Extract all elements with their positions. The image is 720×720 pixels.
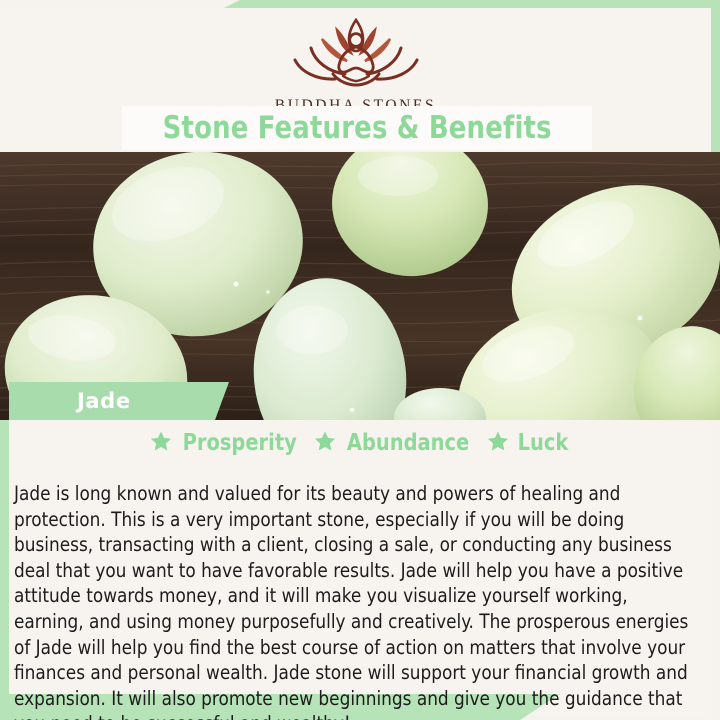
benefit-label: Abundance — [347, 430, 469, 456]
right-green-accent-band — [710, 0, 720, 162]
star-icon — [314, 430, 336, 456]
brand-logo: BUDDHA STONES — [0, 14, 711, 115]
lotus-meditation-icon — [0, 14, 711, 95]
stone-description: Jade is long known and valued for its be… — [14, 481, 696, 720]
star-icon — [150, 430, 172, 456]
page-title: Stone Features & Benefits — [162, 110, 551, 146]
jade-stones-photo — [0, 152, 720, 420]
benefit-label: Luck — [518, 430, 569, 456]
star-icon — [487, 430, 509, 456]
stone-name: Jade — [77, 389, 131, 413]
stone-name-band: Jade — [9, 382, 229, 420]
title-banner: Stone Features & Benefits — [122, 106, 592, 150]
benefit-item-prosperity: Prosperity — [150, 430, 300, 456]
stone-info-poster: BUDDHA STONES Stone Features & Benefits — [0, 0, 720, 720]
benefit-label: Prosperity — [182, 430, 296, 456]
benefit-item-luck: Luck — [487, 430, 570, 456]
benefit-item-abundance: Abundance — [314, 430, 473, 456]
benefits-row: Prosperity Abundance Luck — [9, 430, 711, 456]
